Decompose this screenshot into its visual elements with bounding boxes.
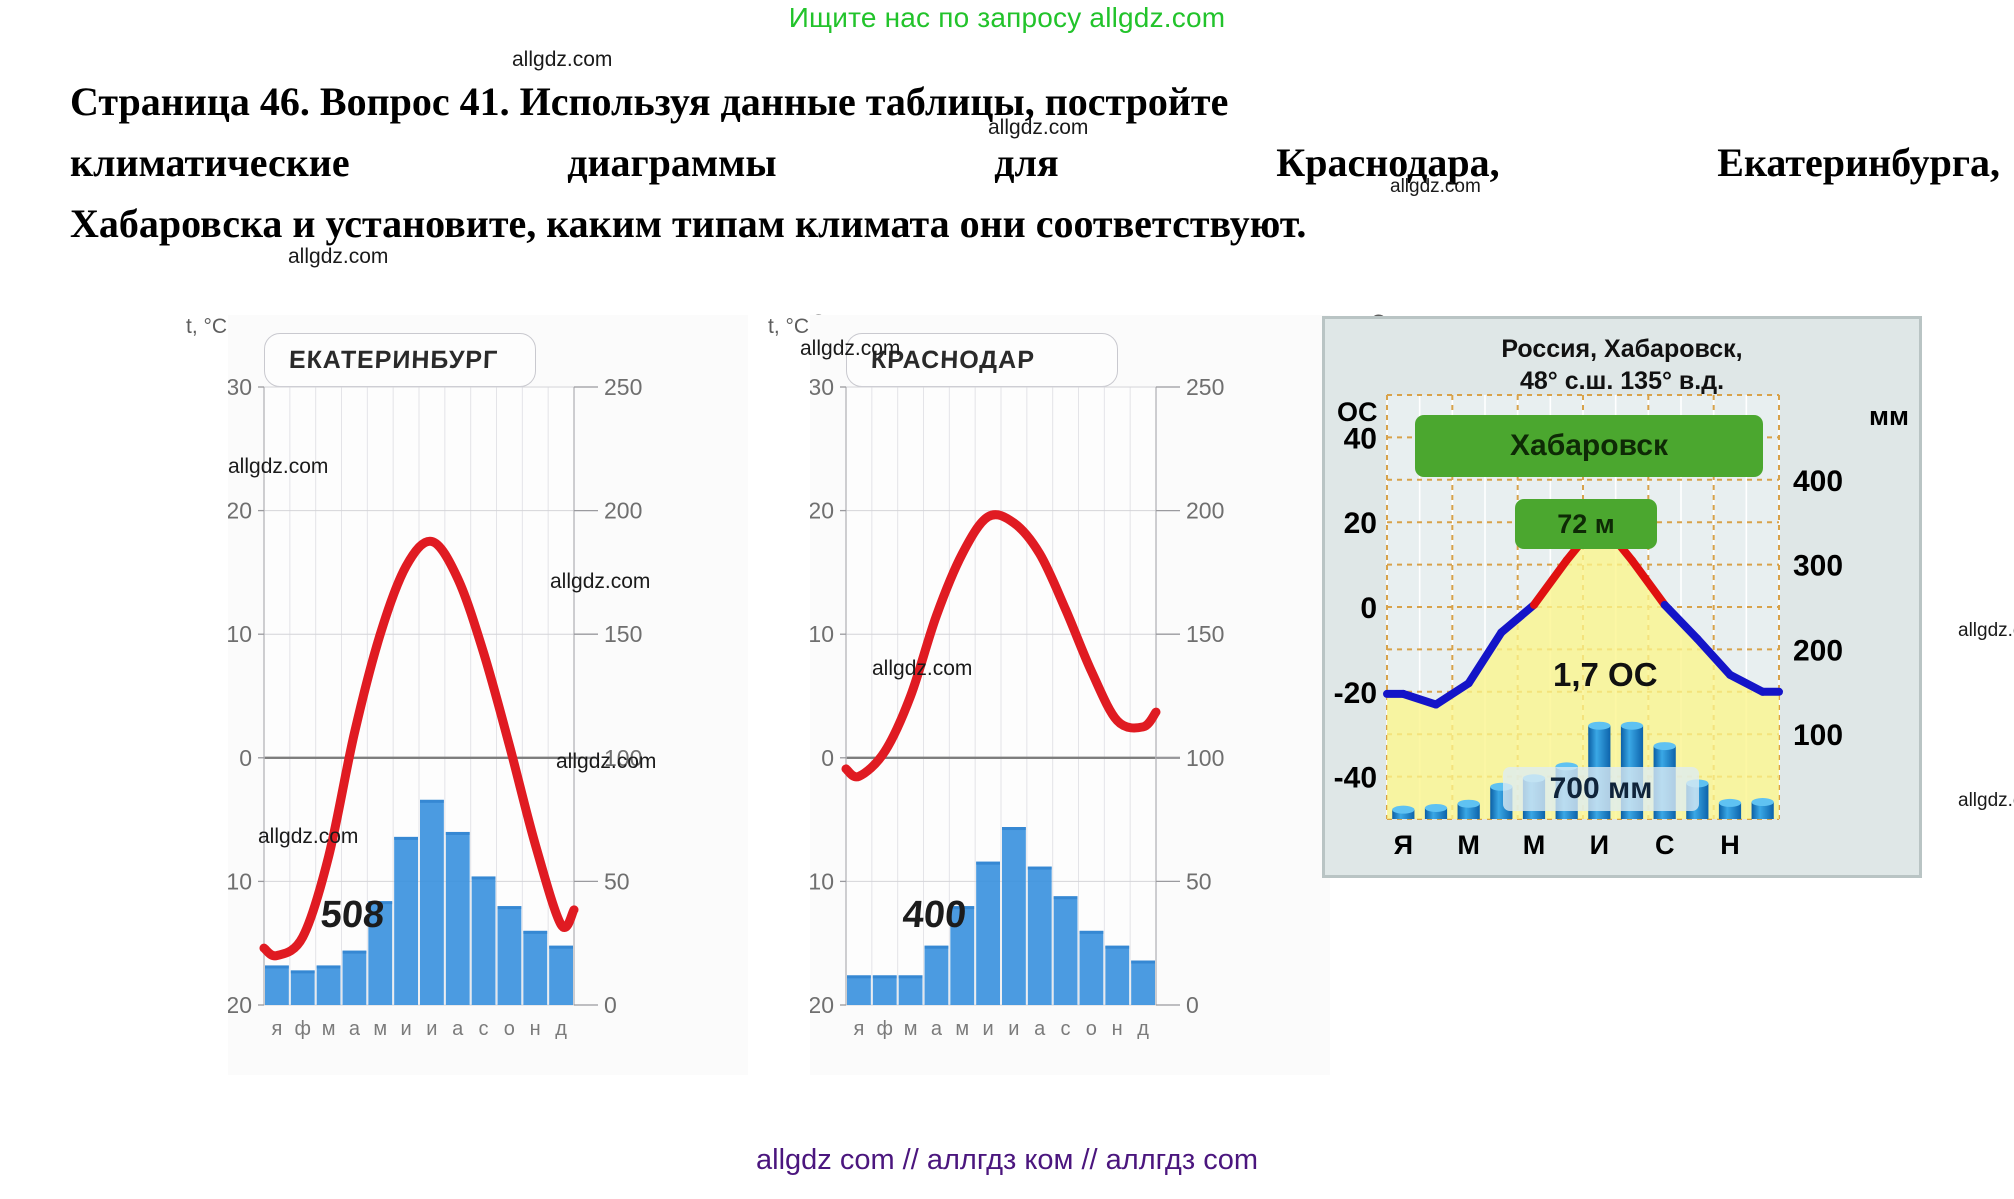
khabarovsk-mean-temp: 1,7 ОС [1553,656,1658,694]
month-tick-label: М [1518,830,1551,861]
khabarovsk-month-axis: ЯММИСН [1387,830,1779,861]
precip-bar [1105,946,1129,1005]
precip-bar [976,862,1000,1005]
question-line-2: климатические диаграммы для Краснодара, … [70,133,2000,194]
chart-ytick-left: 20 [810,498,834,524]
month-tick-label [1550,830,1583,861]
month-tick-label: и [419,1018,445,1041]
month-tick-label: я [846,1018,872,1041]
khabarovsk-ytick-left: 40 [1344,422,1377,455]
question-line-1: Страница 46. Вопрос 41. Используя данные… [70,72,2000,133]
month-tick-label: н [522,1018,548,1041]
month-tick-label: д [548,1018,574,1041]
chart-ytick-left: -20 [228,992,252,1018]
khabarovsk-ytick-right: 400 [1793,465,1843,498]
precip-bar [265,965,289,1005]
chart-ytick-right: 200 [604,498,642,524]
chart-ytick-right: 100 [604,745,642,771]
month-tick-label: о [1078,1018,1104,1041]
precip-bar [925,946,949,1005]
month-tick-label: м [949,1018,975,1041]
chart-ytick-left: 0 [239,745,252,771]
chart-ytick-left: 10 [228,621,252,647]
top-watermark: Ищите нас по запросу allgdz.com [0,2,2014,34]
chart-ytick-right: 250 [1186,374,1224,400]
month-tick-label: И [1583,830,1616,861]
month-tick-label: Я [1387,830,1420,861]
month-tick-label: я [264,1018,290,1041]
month-tick-label: а [341,1018,367,1041]
month-tick-label: а [445,1018,471,1041]
khabarovsk-ytick-right: 300 [1793,550,1843,583]
month-tick-label: М [1452,830,1485,861]
khabarovsk-ytick-right: 100 [1793,719,1843,752]
climate-chart-khabarovsk: Россия, Хабаровск, 48° с.ш. 135° в.д. ОС… [1322,316,1922,878]
precip-bar [1080,931,1104,1005]
month-tick-label: ф [872,1018,898,1041]
page-watermark: allgdz.com [1958,620,2014,642]
page-watermark: allgdz.com [512,48,612,72]
precip-bar [899,975,923,1005]
month-tick-label: а [1027,1018,1053,1041]
chart-ytick-right: 50 [1186,868,1212,894]
climate-chart-krasnodar: t, °C Осадки, мм КРАСНОДАР 3020100-10-20… [810,315,1330,1075]
question-word: для [994,133,1058,194]
annual-precip-annotation: 508 [319,894,386,936]
khabarovsk-total-precip: 700 мм [1503,767,1699,811]
khabarovsk-ytick-right: 200 [1793,634,1843,667]
month-tick-label [1485,830,1518,861]
month-tick-label: и [1001,1018,1027,1041]
chart-ytick-left: 10 [810,621,834,647]
khabarovsk-ytick-left: -40 [1334,762,1377,795]
khabarovsk-ytick-left: 20 [1344,507,1377,540]
month-tick-label: д [1130,1018,1156,1041]
chart-ytick-left: -10 [228,868,252,894]
precip-bar [523,931,547,1005]
chart-ytick-left: -10 [810,868,834,894]
chart1-month-axis: яфмамииасонд [264,1018,574,1041]
khabarovsk-city-badge: Хабаровск [1415,415,1763,477]
month-tick-label [1616,830,1649,861]
precip-bar [343,951,367,1005]
chart-ytick-right: 0 [1186,992,1199,1018]
khabarovsk-ytick-left: -20 [1334,677,1377,710]
footer-watermark: allgdz com // аллгдз ком // аллгдз com [0,1144,2014,1177]
precip-bar [1131,961,1155,1005]
question-title: Страница 46. Вопрос 41. Используя данные… [70,72,2000,254]
precip-bar [873,975,897,1005]
month-tick-label: и [975,1018,1001,1041]
month-tick-label [1681,830,1714,861]
climate-chart-yekaterinburg: t, °C Осадки, мм ЕКАТЕРИНБУРГ 3020100-10… [228,315,748,1075]
month-tick-label: м [316,1018,342,1041]
question-word: диаграммы [567,133,776,194]
question-word: климатические [70,133,350,194]
month-tick-label [1420,830,1453,861]
chart-ytick-right: 250 [604,374,642,400]
question-line-3: Хабаровска и установите, каким типам кли… [70,194,2000,255]
month-tick-label: н [1104,1018,1130,1041]
chart1-ylabel-left: t, °C [186,315,227,339]
chart-ytick-left: 20 [228,498,252,524]
precip-bar [472,876,496,1005]
precip-bar [1002,827,1026,1005]
chart-ytick-right: 50 [604,868,630,894]
chart-ytick-right: 150 [1186,621,1224,647]
month-tick-label: и [393,1018,419,1041]
chart-ytick-right: 0 [604,992,617,1018]
chart-ytick-right: 100 [1186,745,1224,771]
question-word: Екатеринбурга, [1717,133,2000,194]
precip-bar [317,965,341,1005]
chart2-month-axis: яфмамииасонд [846,1018,1156,1041]
precip-bar [291,970,315,1005]
chart1-canvas: 3020100-10-20250200150100500508 [228,315,748,1075]
chart-ytick-right: 200 [1186,498,1224,524]
page-watermark: allgdz.com [1958,790,2014,812]
month-tick-label: Н [1714,830,1747,861]
precip-bar [549,946,573,1005]
chart-ytick-left: 30 [228,374,252,400]
chart2-canvas: 3020100-10-20250200150100500400 [810,315,1330,1075]
month-tick-label: м [367,1018,393,1041]
month-tick-label: а [923,1018,949,1041]
precip-bar [1054,896,1078,1005]
precip-bar [847,975,871,1005]
precip-bar [420,800,444,1005]
khabarovsk-ytick-left: 0 [1360,592,1377,625]
month-tick-label: С [1648,830,1681,861]
chart-ytick-left: 0 [821,745,834,771]
precip-bar [498,906,522,1005]
chart2-ylabel-left: t, °C [768,315,809,339]
precip-bar [1028,867,1052,1005]
chart-ytick-right: 150 [604,621,642,647]
precip-bar [394,837,418,1005]
month-tick-label [1746,830,1779,861]
month-tick-label: ф [290,1018,316,1041]
khabarovsk-elevation-badge: 72 м [1515,499,1657,549]
month-tick-label: с [471,1018,497,1041]
precip-bar [446,832,470,1005]
question-word: Краснодара, [1276,133,1499,194]
month-tick-label: с [1053,1018,1079,1041]
month-tick-label: о [496,1018,522,1041]
chart-ytick-left: -20 [810,992,834,1018]
chart-ytick-left: 30 [810,374,834,400]
month-tick-label: м [898,1018,924,1041]
annual-precip-annotation: 400 [901,894,968,936]
